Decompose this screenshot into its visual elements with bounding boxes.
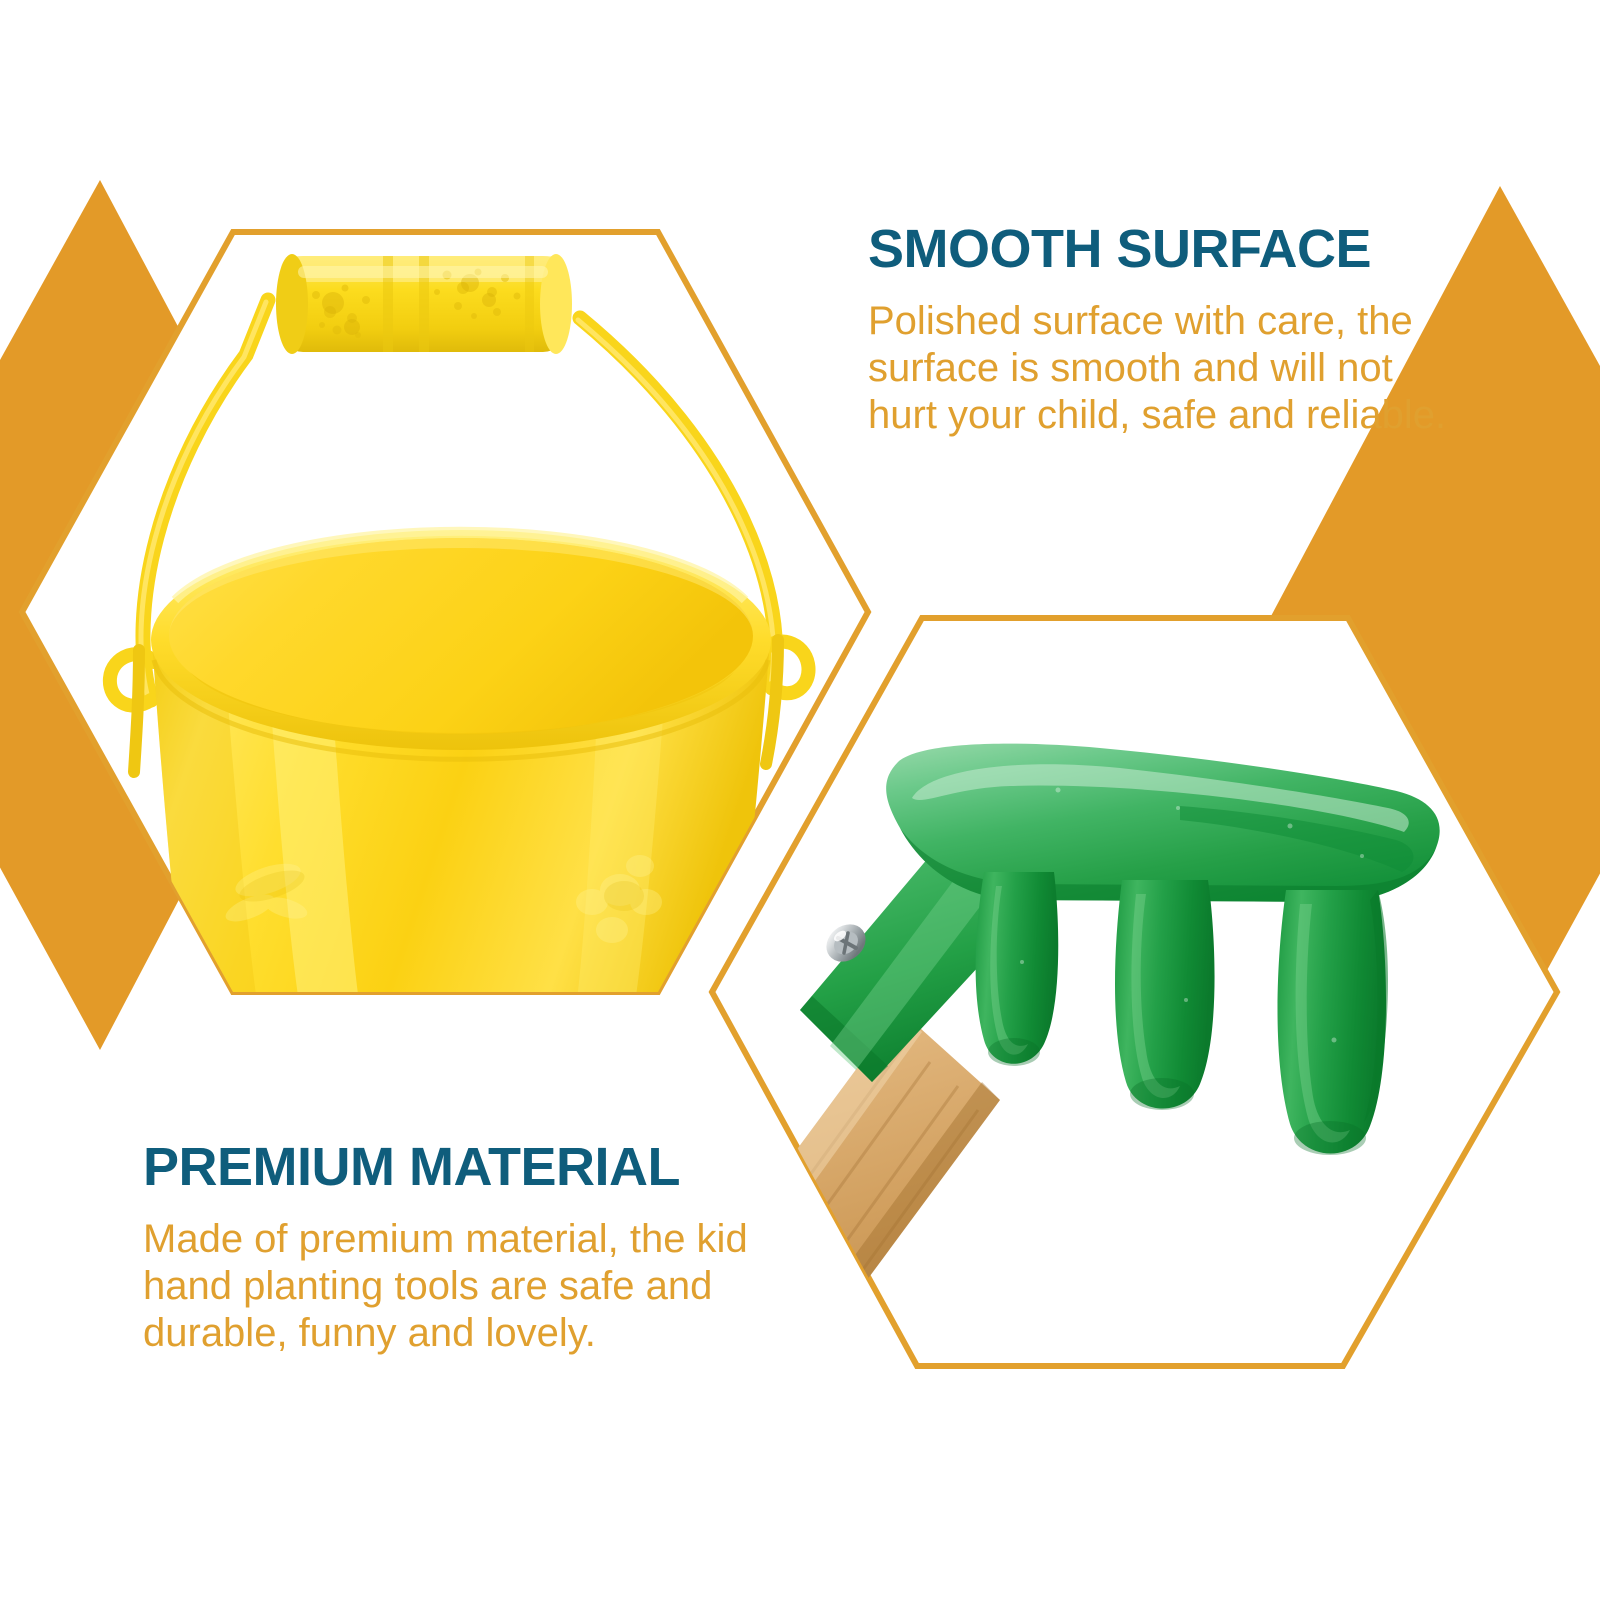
premium-material-heading: PREMIUM MATERIAL [143,1140,803,1194]
feature-block-smooth-surface: SMOOTH SURFACE Polished surface with car… [868,222,1488,438]
smooth-surface-description: Polished surface with care, the surface … [868,298,1468,438]
infographic-canvas: SMOOTH SURFACE Polished surface with car… [0,0,1600,1600]
smooth-surface-description-text: Polished surface with care, the surface … [868,299,1446,437]
premium-material-description: Made of premium material, the kid hand p… [143,1216,763,1356]
feature-block-premium-material: PREMIUM MATERIAL Made of premium materia… [143,1140,803,1356]
premium-material-description-text: Made of premium material, the kid hand p… [143,1217,748,1355]
smooth-surface-heading: SMOOTH SURFACE [868,222,1488,276]
